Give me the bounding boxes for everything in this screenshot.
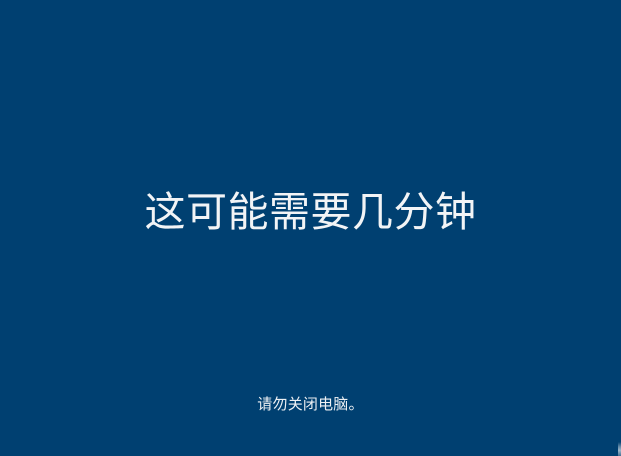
- subtext-container: 请勿关闭电脑。: [0, 393, 621, 415]
- progress-indicator-region: [0, 255, 621, 385]
- update-splash-screen: 这可能需要几分钟 请勿关闭电脑。: [0, 0, 621, 456]
- status-headline: 这可能需要几分钟: [24, 186, 597, 238]
- do-not-power-off-warning: 请勿关闭电脑。: [24, 393, 597, 415]
- headline-container: 这可能需要几分钟: [0, 186, 621, 238]
